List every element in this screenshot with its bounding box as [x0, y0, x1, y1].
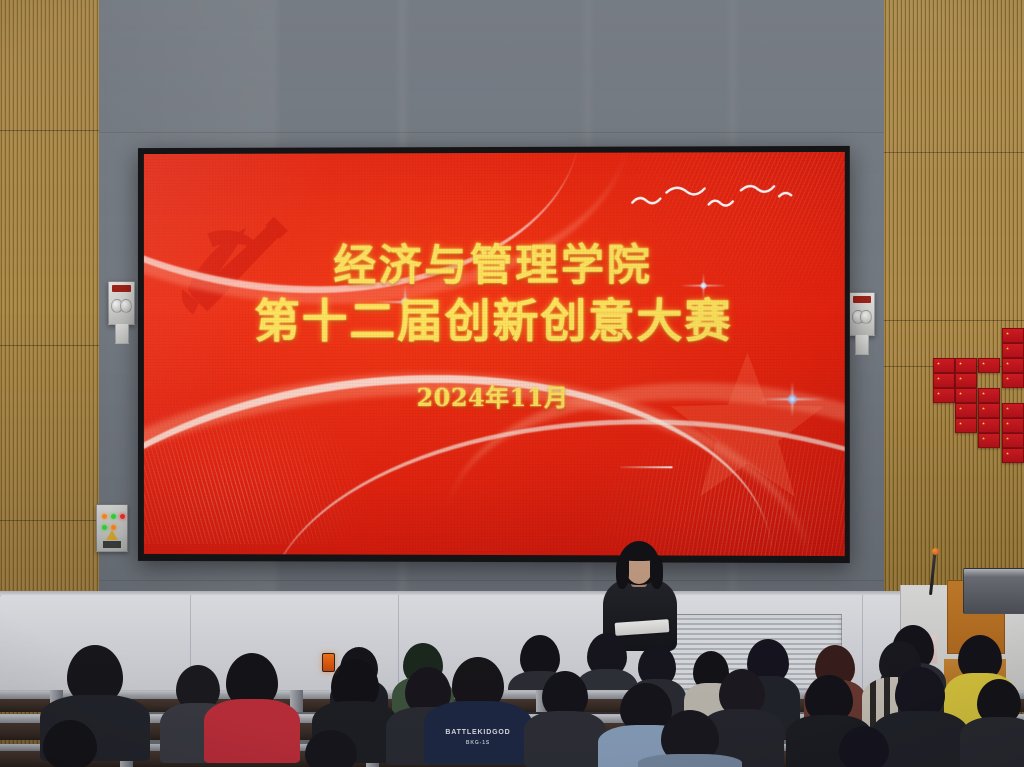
indicator-led-orange-icon: [102, 514, 107, 519]
microphone-icon[interactable]: [932, 548, 939, 555]
wall-control-panel-right[interactable]: [849, 292, 875, 336]
fire-alarm-panel[interactable]: [96, 504, 128, 552]
slide-title-line-2: 第十二届创新创意大赛: [144, 293, 845, 348]
wall-seam: [96, 132, 902, 133]
panel-dial-icon[interactable]: [860, 310, 872, 325]
audience-row-foreground: [0, 700, 1024, 767]
red-flag-icon: [1002, 358, 1024, 373]
led-display-screen[interactable]: 经济与管理学院 第十二届创新创意大赛 2024年11月: [138, 146, 850, 563]
red-flag-icon: [1002, 343, 1024, 358]
red-flag-icon: [933, 358, 955, 373]
slide-canvas: 经济与管理学院 第十二届创新创意大赛 2024年11月: [144, 152, 845, 556]
red-flag-icon: [955, 388, 977, 403]
slide-text-block: 经济与管理学院 第十二届创新创意大赛 2024年11月: [144, 240, 845, 413]
indicator-led-green-icon: [111, 514, 116, 519]
red-flag-icon: [933, 388, 955, 403]
red-flag-icon: [978, 418, 1000, 433]
phone-screen-icon: [322, 653, 335, 672]
red-flag-icon: [978, 358, 1000, 373]
red-flag-icon: [1002, 418, 1024, 433]
panel-lower-housing: [855, 335, 868, 355]
panel-dial-icon[interactable]: [120, 299, 133, 314]
indicator-led-red-icon: [120, 514, 125, 519]
presenter-hair-right: [650, 555, 663, 589]
panel-label-plate: [103, 541, 121, 548]
warning-triangle-icon: [106, 530, 118, 540]
red-flag-icon: [955, 373, 977, 388]
flying-doves-icon: [622, 180, 813, 239]
panel-label-strip: [112, 285, 131, 292]
audience-member: [820, 726, 908, 767]
red-flag-icon: [955, 418, 977, 433]
wall-seam: [96, 580, 902, 581]
red-flag-icon: [955, 403, 977, 418]
auditorium-scene: 经济与管理学院 第十二届创新创意大赛 2024年11月: [0, 0, 1024, 767]
red-flag-icon: [978, 433, 1000, 448]
accent-dash: [620, 466, 672, 468]
red-flag-icon: [1002, 373, 1024, 388]
panel-label-strip: [853, 296, 871, 303]
audience-member: [638, 710, 742, 767]
red-flag-icon: [1002, 448, 1024, 463]
red-flag-icon: [978, 403, 1000, 418]
panel-lower-housing: [115, 324, 129, 344]
slide-subtitle-date: 2024年11月: [144, 378, 845, 413]
presenter-hair-left: [616, 555, 629, 589]
red-flag-icon: [955, 358, 977, 373]
wall-control-panel-left[interactable]: [108, 281, 135, 325]
audience-member: [286, 730, 376, 767]
slide-title-line-1: 经济与管理学院: [144, 240, 845, 292]
audience-member: [22, 720, 118, 767]
red-flag-icon: [1002, 328, 1024, 343]
red-flag-icon: [1002, 403, 1024, 418]
red-flag-icon: [978, 388, 1000, 403]
red-flag-icon: [1002, 433, 1024, 448]
red-flag-icon: [933, 373, 955, 388]
